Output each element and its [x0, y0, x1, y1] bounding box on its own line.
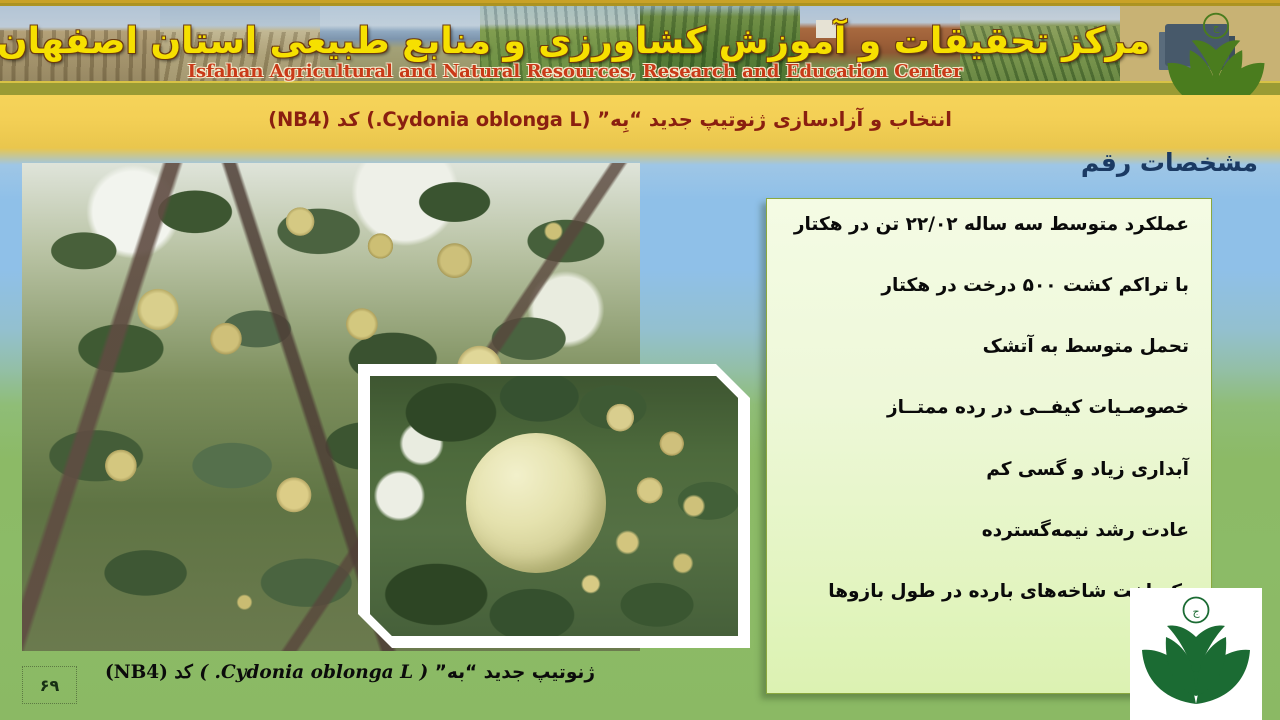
- spec-line-density: با تراکم کشت ۵۰۰ درخت در هکتار: [779, 274, 1189, 297]
- slide-title: انتخاب و آزادسازی ژنوتیپ جدید “بِه” (Cyd…: [260, 108, 960, 131]
- header-banner: مرکز تحقیقات و آموزش کشاورزی و منابع طبی…: [0, 0, 1280, 95]
- caption-farsi-lead: ژنوتیپ جدید “به”: [435, 662, 595, 683]
- spec-line-juiciness: آبداری زیاد و گسی کم: [779, 458, 1189, 481]
- spec-line-quality: خصوصـیات کیفــی در رده ممتــاز: [779, 396, 1189, 419]
- svg-text:ج: ج: [1192, 605, 1200, 618]
- spec-line-fireblight: تحمل متوسط به آتشک: [779, 335, 1189, 358]
- spec-line-branch-uniformity: یکنواخت شاخه‌های بارده در طول بازوها: [779, 580, 1189, 603]
- header-title-farsi: مرکز تحقیقات و آموزش کشاورزی و منابع طبی…: [0, 21, 1150, 62]
- photo-caption: ژنوتیپ جدید “به” ( Cydonia oblonga L. ) …: [0, 662, 700, 683]
- quince-fruit-closeup-photo: [370, 376, 738, 636]
- svg-text:ج: ج: [1213, 21, 1220, 33]
- jihad-keshavarzi-corner-logo-icon: ج: [1130, 588, 1262, 720]
- slide-title-scientific-name: (Cydonia oblonga L.): [366, 108, 590, 131]
- spec-line-partial: ی: [779, 641, 1189, 664]
- spec-line-yield: عملکرد متوسط سه ساله ۲۲/۰۲ تن در هکتار: [779, 213, 1189, 236]
- slide-title-code: کد (NB4): [268, 108, 359, 131]
- section-heading: مشخصات رقم: [1081, 148, 1258, 177]
- header-accent-strip: [0, 81, 1280, 95]
- caption-code: کد (NB4): [105, 662, 193, 683]
- quince-fruit-closeup-frame: [358, 364, 750, 648]
- spec-line-growth-habit: عادت رشد نیمه‌گسترده: [779, 519, 1189, 542]
- presentation-slide: مرکز تحقیقات و آموزش کشاورزی و منابع طبی…: [0, 0, 1280, 720]
- caption-scientific-name: ( Cydonia oblonga L. ): [199, 662, 428, 683]
- jihad-keshavarzi-logo-icon: ج: [1160, 9, 1272, 79]
- closeup-main-quince-fruit: [466, 433, 606, 573]
- page-number: ۶۹: [22, 666, 77, 704]
- slide-title-farsi: انتخاب و آزادسازی ژنوتیپ جدید “بِه”: [597, 108, 952, 131]
- header-title-english: Isfahan Agricultural and Natural Resourc…: [0, 61, 1150, 82]
